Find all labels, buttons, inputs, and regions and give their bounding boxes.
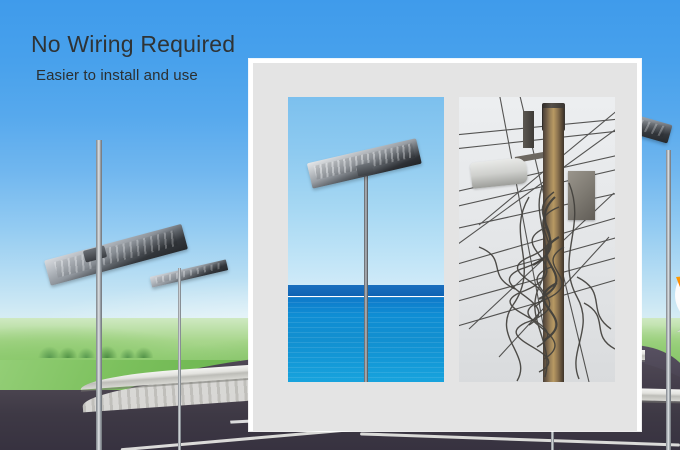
page-subtitle: Easier to install and use <box>36 67 198 84</box>
photo-tedious-wiring <box>459 97 615 382</box>
photo-no-wiring <box>288 97 444 382</box>
street-lamp-foreground <box>0 105 210 450</box>
photo-lamp-pole <box>364 160 368 382</box>
banner-image: No Wiring Required Easier to install and… <box>0 0 680 450</box>
lamp-pole <box>96 140 102 450</box>
solar-cells <box>53 230 178 277</box>
solar-panel <box>44 224 188 286</box>
photo-tangled-cables <box>459 97 615 382</box>
page-title: No Wiring Required <box>31 31 235 58</box>
vs-badge <box>657 259 680 343</box>
comparison-card: No wiring required Tedious wiring <box>249 59 641 431</box>
comparison-card-inner: No wiring required Tedious wiring <box>253 63 637 431</box>
